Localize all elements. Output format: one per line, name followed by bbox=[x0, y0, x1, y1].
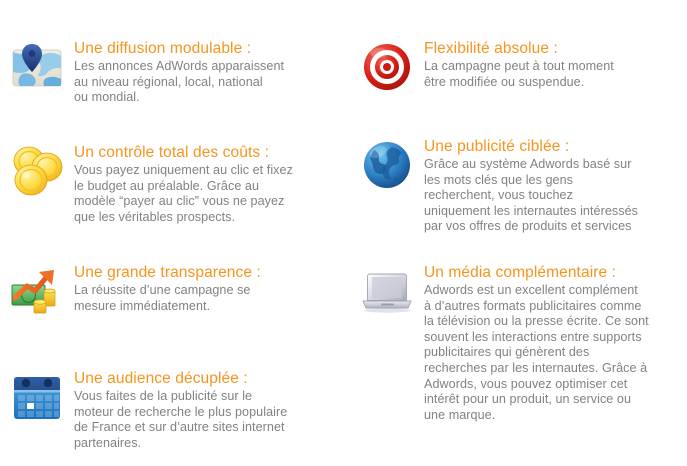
feature-diffusion-modulable: Une diffusion modulable : Les annonces A… bbox=[8, 38, 340, 106]
body-line: ou mondial. bbox=[74, 90, 340, 106]
feature-publicite-ciblee: Une publicité ciblée : Grâce au système … bbox=[358, 136, 687, 235]
features-column-right: Flexibilité absolue : La campagne peut à… bbox=[350, 0, 687, 466]
body-line: recherches par les internautes. Grâce à bbox=[424, 361, 687, 377]
feature-controle-total-des-couts: Un contrôle total des coûts : Vous payez… bbox=[8, 142, 340, 225]
body-line: intérêt pour un produit, un service ou bbox=[424, 392, 687, 408]
body-line: souvent les interactions entre supports bbox=[424, 330, 687, 346]
feature-text: Une grande transparence : La réussite d’… bbox=[74, 262, 340, 314]
feature-text: Une audience décuplée : Vous faites de l… bbox=[74, 368, 340, 451]
body-line: recherchent, vous touchez bbox=[424, 188, 687, 204]
body-line: le budget au préalable. Grâce au bbox=[74, 179, 340, 195]
body-line: les mots clés que les gens bbox=[424, 173, 687, 189]
body-line: modèle “payer au clic” vous ne payez bbox=[74, 194, 340, 210]
feature-text: Une publicité ciblée : Grâce au système … bbox=[424, 136, 687, 235]
money-growth-chart-icon bbox=[8, 262, 66, 320]
feature-body: Adwords est un excellent complément à d’… bbox=[424, 283, 687, 423]
feature-text: Une diffusion modulable : Les annonces A… bbox=[74, 38, 340, 106]
feature-text: Flexibilité absolue : La campagne peut à… bbox=[424, 38, 687, 90]
feature-body: Grâce au système Adwords basé sur les mo… bbox=[424, 157, 687, 235]
body-line: une marque. bbox=[424, 408, 687, 424]
laptop-icon bbox=[358, 262, 416, 320]
body-line: uniquement les internautes intéressés bbox=[424, 204, 687, 220]
body-line: Grâce au système Adwords basé sur bbox=[424, 157, 687, 173]
feature-body: La campagne peut à tout moment être modi… bbox=[424, 59, 687, 90]
gold-coins-icon bbox=[8, 142, 66, 200]
body-line: moteur de recherche le plus populaire bbox=[74, 405, 340, 421]
feature-title: Un contrôle total des coûts : bbox=[74, 144, 340, 162]
body-line: Les annonces AdWords apparaissent bbox=[74, 59, 340, 75]
body-line: Vous faites de la publicité sur le bbox=[74, 389, 340, 405]
body-line: que les véritables prospects. bbox=[74, 210, 340, 226]
body-line: mesure immédiatement. bbox=[74, 299, 340, 315]
body-line: au niveau régional, local, national bbox=[74, 75, 340, 91]
body-line: à d’autres formats publicitaires comme bbox=[424, 299, 687, 315]
body-line: publicitaires qui génèrent des bbox=[424, 345, 687, 361]
feature-title: Une diffusion modulable : bbox=[74, 40, 340, 58]
features-board: Une diffusion modulable : Les annonces A… bbox=[0, 0, 687, 466]
feature-body: Les annonces AdWords apparaissent au niv… bbox=[74, 59, 340, 106]
feature-body: Vous payez uniquement au clic et fixez l… bbox=[74, 163, 340, 225]
body-line: Adwords, vous pouvez optimiser cet bbox=[424, 377, 687, 393]
body-line: partenaires. bbox=[74, 436, 340, 452]
feature-text: Un média complémentaire : Adwords est un… bbox=[424, 262, 687, 423]
feature-flexibilite-absolue: Flexibilité absolue : La campagne peut à… bbox=[358, 38, 687, 96]
globe-icon bbox=[358, 136, 416, 194]
feature-title: Une audience décuplée : bbox=[74, 370, 340, 388]
features-column-left: Une diffusion modulable : Les annonces A… bbox=[0, 0, 340, 466]
body-line: La réussite d’une campagne se bbox=[74, 283, 340, 299]
body-line: de France et sur d’autre sites internet bbox=[74, 420, 340, 436]
calendar-icon bbox=[8, 368, 66, 426]
feature-title: Une grande transparence : bbox=[74, 264, 340, 282]
body-line: la télévision ou la presse écrite. Ce so… bbox=[424, 314, 687, 330]
feature-title: Flexibilité absolue : bbox=[424, 40, 687, 58]
feature-audience-decuplee: Une audience décuplée : Vous faites de l… bbox=[8, 368, 340, 451]
body-line: par vos offres de produits et services bbox=[424, 219, 687, 235]
feature-grande-transparence: Une grande transparence : La réussite d’… bbox=[8, 262, 340, 320]
map-pin-icon bbox=[8, 38, 66, 96]
feature-media-complementaire: Un média complémentaire : Adwords est un… bbox=[358, 262, 687, 423]
feature-title: Une publicité ciblée : bbox=[424, 138, 687, 156]
feature-title: Un média complémentaire : bbox=[424, 264, 687, 282]
body-line: Vous payez uniquement au clic et fixez bbox=[74, 163, 340, 179]
target-icon bbox=[358, 38, 416, 96]
feature-body: La réussite d’une campagne se mesure imm… bbox=[74, 283, 340, 314]
feature-text: Un contrôle total des coûts : Vous payez… bbox=[74, 142, 340, 225]
body-line: La campagne peut à tout moment bbox=[424, 59, 687, 75]
body-line: être modifiée ou suspendue. bbox=[424, 75, 687, 91]
body-line: Adwords est un excellent complément bbox=[424, 283, 687, 299]
feature-body: Vous faites de la publicité sur le moteu… bbox=[74, 389, 340, 451]
